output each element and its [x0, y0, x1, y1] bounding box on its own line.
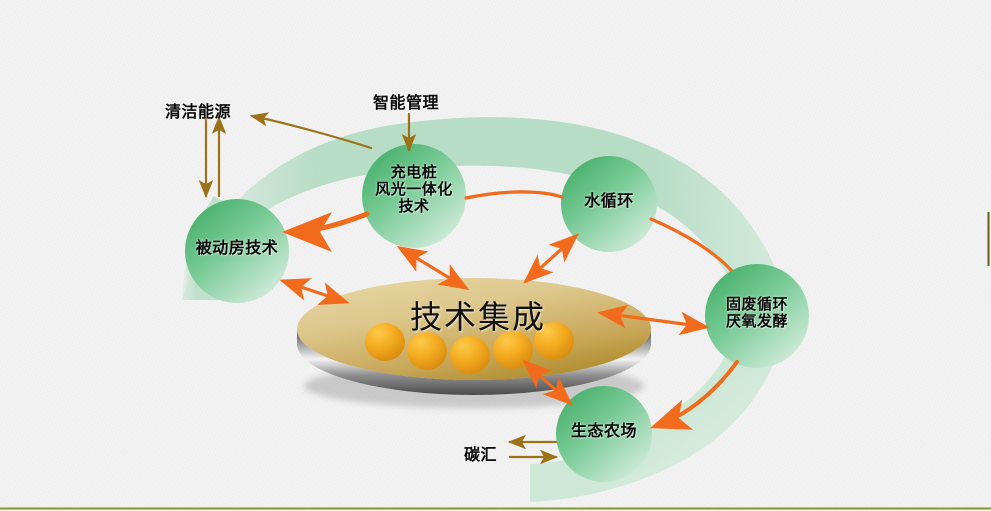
node-passive-house[interactable]	[185, 199, 289, 303]
diagram-svg	[0, 0, 991, 511]
arrow-charging-to-passive	[290, 214, 367, 232]
node-solid-waste[interactable]	[705, 264, 809, 368]
diagram-canvas: 被动房技术 充电桩 风光一体化 技术 水循环 固废循环 厌氧发酵 生态农场 技术…	[0, 0, 991, 511]
node-charging-pile[interactable]	[362, 144, 466, 248]
center-disc[interactable]	[297, 278, 651, 380]
arrow-charging-to-cleanenergy	[252, 116, 371, 148]
spoke-center-water	[526, 236, 576, 281]
node-water-cycle[interactable]	[561, 156, 657, 252]
node-eco-farm[interactable]	[556, 386, 652, 482]
arrow-charging-to-water	[466, 192, 562, 198]
